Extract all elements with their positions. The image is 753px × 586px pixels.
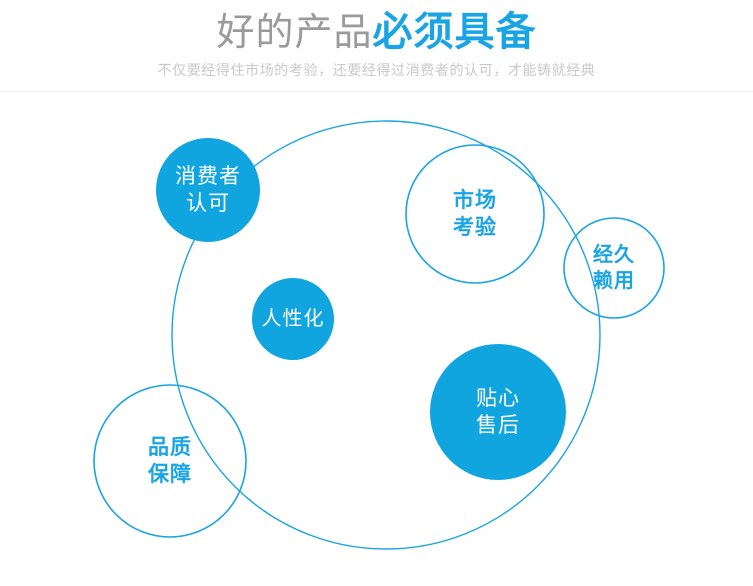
bubble-diagram: 消费者 认可 市场 考验 经久 赖用 人性化 贴心 售后 品质 保障 [0,92,753,586]
product-feature-banner: 好的产品必须具备 不仅要经得住市场的考验，还要经得过消费者的认可，才能铸就经典 … [0,0,753,586]
quality-assurance-circle[interactable] [94,385,246,537]
page-title: 好的产品必须具备 [0,8,753,65]
bubble-diagram-svg [0,92,753,586]
page-title-blue-part: 必须具备 [373,10,537,54]
banner-header: 好的产品必须具备 不仅要经得住市场的考验，还要经得过消费者的认可，才能铸就经典 [0,0,753,92]
consumer-approval-circle[interactable] [156,138,260,242]
humanized-circle[interactable] [252,278,334,360]
attentive-after-sales-circle[interactable] [430,344,566,480]
page-subtitle: 不仅要经得住市场的考验，还要经得过消费者的认可，才能铸就经典 [0,60,753,80]
market-test-circle[interactable] [406,145,544,283]
page-title-gray-part: 好的产品 [216,12,372,54]
durable-use-circle[interactable] [564,218,664,318]
